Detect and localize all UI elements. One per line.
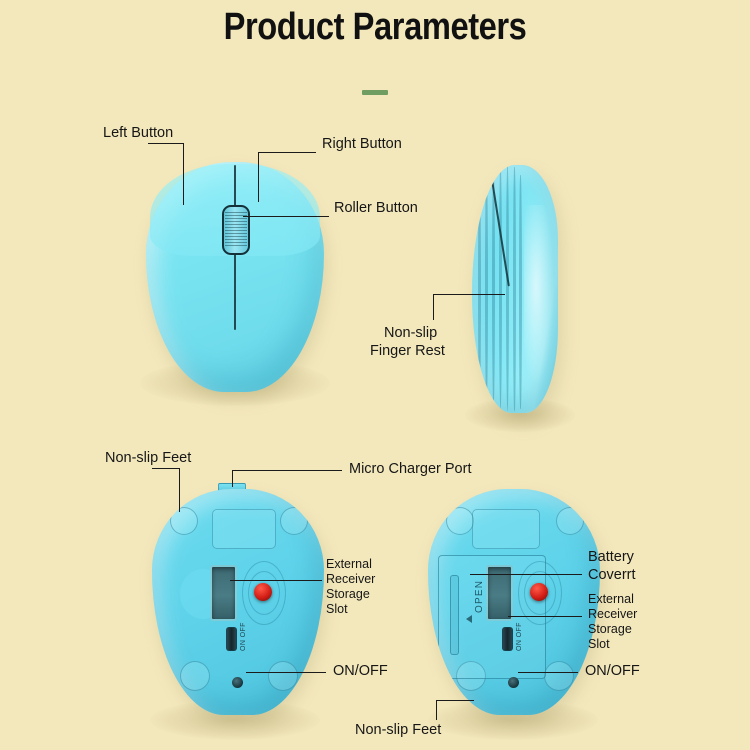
screw-hole (508, 677, 519, 688)
foot-top-left (446, 507, 474, 535)
leader-receiver-right (508, 616, 582, 617)
label-battery-cover-l1: Battery (588, 549, 634, 566)
leader-feet-left-h (152, 468, 180, 469)
foot-bottom-left (180, 661, 210, 691)
label-battery-cover-l2: Coverrt (588, 567, 636, 584)
page-title: Product Parameters (53, 6, 698, 49)
mouse-bottom-right-body: OPEN ON OFF (428, 489, 600, 715)
mouse-side-view-body (472, 165, 558, 413)
title-divider (362, 90, 388, 95)
optical-sensor (530, 583, 548, 601)
leader-left-button-v (183, 143, 184, 205)
label-non-slip-feet-left: Non-slip Feet (105, 450, 191, 467)
battery-open-arrow (466, 615, 472, 623)
screw-hole (232, 677, 243, 688)
leader-charger-h (232, 470, 342, 471)
leader-on-off-right (518, 672, 578, 673)
button-seam-lower (234, 244, 236, 330)
battery-open-label: OPEN (474, 580, 485, 613)
power-switch-label: ON OFF (240, 622, 247, 651)
leader-feet-left-v (179, 468, 180, 512)
leader-feet-right-v (436, 700, 437, 720)
foot-bottom-right (544, 661, 574, 691)
label-left-button: Left Button (103, 125, 173, 142)
leader-left-button-h (148, 143, 184, 144)
label-receiver-slot-right-l2: Receiver (588, 607, 637, 622)
foot-top-right (280, 507, 308, 535)
leader-feet-right-h (436, 700, 474, 701)
label-receiver-slot-left-l2: Receiver (326, 572, 375, 587)
leader-right-button-v (258, 152, 259, 202)
leader-finger-rest-h (433, 294, 505, 295)
label-receiver-slot-right-l4: Slot (588, 637, 610, 652)
label-non-slip-feet-right: Non-slip Feet (355, 722, 441, 739)
power-switch[interactable] (502, 627, 513, 651)
leader-battery-cover (470, 574, 582, 575)
leader-receiver-left-h (230, 580, 322, 581)
leader-charger-v (232, 470, 233, 487)
label-receiver-slot-right-l1: External (588, 592, 634, 607)
label-finger-rest-line2: Finger Rest (370, 343, 445, 360)
side-view-highlight (524, 205, 554, 385)
leader-on-off-left (246, 672, 326, 673)
label-receiver-slot-left-l4: Slot (326, 602, 348, 617)
label-pad (212, 509, 276, 549)
optical-sensor (254, 583, 272, 601)
power-switch-label: ON OFF (516, 622, 523, 651)
label-receiver-slot-left-l3: Storage (326, 587, 370, 602)
label-pad (472, 509, 540, 549)
scroll-wheel[interactable] (222, 205, 250, 255)
product-parameters-infographic: Product Parameters Left Button Right But… (0, 0, 750, 750)
receiver-storage-slot[interactable] (210, 565, 237, 621)
label-receiver-slot-left-l1: External (326, 557, 372, 572)
mouse-bottom-left-body: ON OFF (152, 489, 324, 715)
label-roller-button: Roller Button (334, 200, 418, 217)
leader-finger-rest-v (433, 294, 434, 320)
foot-bottom-right (268, 661, 298, 691)
label-right-button: Right Button (322, 136, 402, 153)
label-on-off-right: ON/OFF (585, 663, 640, 680)
label-receiver-slot-right-l3: Storage (588, 622, 632, 637)
leader-right-button-h (258, 152, 316, 153)
foot-top-left (170, 507, 198, 535)
power-switch[interactable] (226, 627, 237, 651)
foot-top-right (556, 507, 584, 535)
battery-cover-groove (450, 575, 459, 655)
label-micro-charger-port: Micro Charger Port (349, 461, 471, 478)
label-finger-rest-line1: Non-slip (384, 325, 437, 342)
leader-roller-button (243, 216, 329, 217)
label-on-off-left: ON/OFF (333, 663, 388, 680)
